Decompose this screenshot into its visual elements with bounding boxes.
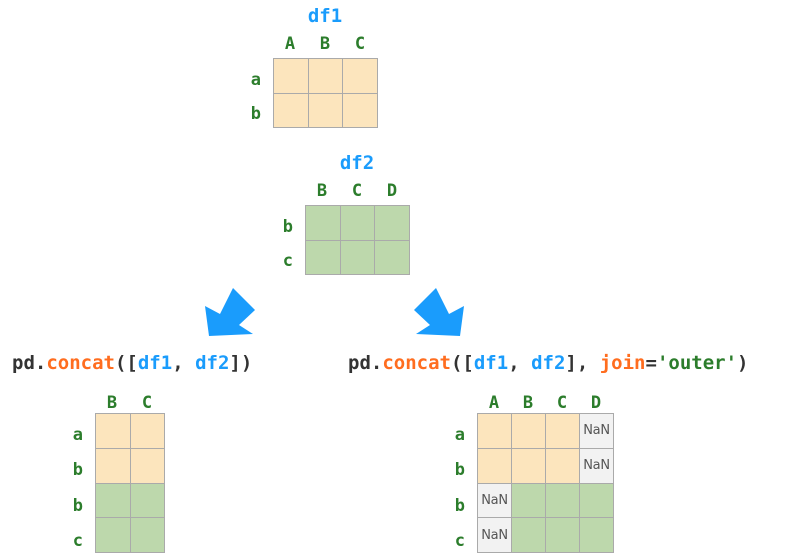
right-code-token-2: ([ [451, 352, 474, 374]
left-code-caption: pd.concat([df1, df2]) [12, 352, 252, 374]
left-result-cell-a-C [131, 414, 165, 448]
left-result-row-header-a: a [55, 425, 83, 445]
df1-cell-a-A [274, 59, 308, 93]
df1-table [273, 58, 378, 128]
pandas-concat-diagram: { "diagram": { "title": "pandas concat d… [0, 0, 800, 553]
left-code-token-6: ]) [229, 352, 252, 374]
right-result-row-header-b1: b [437, 460, 465, 480]
df1-row-header-b: b [233, 104, 261, 124]
right-result-cell-b2-D [580, 484, 613, 518]
right-code-token-7: join [600, 352, 646, 374]
df2-row-header-c: c [265, 251, 293, 271]
df1-row-header-a: a [233, 70, 261, 90]
df2-column-header-C: C [340, 181, 374, 201]
df1-cell-a-C [343, 59, 377, 93]
df2-cell-b-C [341, 206, 375, 240]
right-code-token-4: , [508, 352, 531, 374]
left-code-token-3: df1 [138, 352, 172, 374]
left-code-token-5: df2 [195, 352, 229, 374]
right-result-cell-a-C [546, 414, 579, 448]
df1-cell-b-B [309, 94, 343, 128]
right-result-column-header-A: A [477, 393, 511, 413]
arrow-down-right-icon [412, 286, 466, 336]
left-result-table [95, 413, 165, 553]
df2-cell-b-B [306, 206, 340, 240]
left-result-row-header-b1: b [55, 460, 83, 480]
right-result-cell-b1-A [478, 449, 511, 483]
df1-cell-b-C [343, 94, 377, 128]
right-result-cell-a-D: NaN [580, 414, 613, 448]
df2-cell-c-D [375, 241, 409, 275]
right-result-cell-b2-C [546, 484, 579, 518]
df2-title: df2 [305, 152, 409, 174]
left-code-token-2: ([ [115, 352, 138, 374]
df1-cell-a-B [309, 59, 343, 93]
df2-column-header-B: B [305, 181, 339, 201]
right-code-token-10: ) [737, 352, 748, 374]
df1-column-header-B: B [308, 34, 342, 54]
df2-cell-b-D [375, 206, 409, 240]
left-result-cell-b2-C [131, 484, 165, 518]
right-result-cell-b1-D: NaN [580, 449, 613, 483]
left-result-column-header-C: C [130, 393, 164, 413]
right-result-cell-b1-B [512, 449, 545, 483]
left-result-cell-b1-B [96, 449, 130, 483]
df2-column-header-D: D [375, 181, 409, 201]
right-code-token-3: df1 [474, 352, 508, 374]
right-code-token-9: 'outer' [657, 352, 737, 374]
left-result-row-header-b2: b [55, 496, 83, 516]
right-code-token-6: ], [565, 352, 599, 374]
right-code-token-5: df2 [531, 352, 565, 374]
right-result-row-header-c: c [437, 531, 465, 551]
left-result-cell-b2-B [96, 484, 130, 518]
left-result-cell-c-C [131, 518, 165, 552]
right-result-cell-c-B [512, 518, 545, 552]
right-result-cell-c-A: NaN [478, 518, 511, 552]
df1-cell-b-A [274, 94, 308, 128]
right-result-column-header-D: D [579, 393, 613, 413]
right-code-token-1: concat [382, 352, 451, 374]
df2-cell-c-C [341, 241, 375, 275]
right-result-cell-c-D [580, 518, 613, 552]
left-result-row-header-c: c [55, 531, 83, 551]
right-code-token-0: pd. [348, 352, 382, 374]
right-result-cell-a-A [478, 414, 511, 448]
df1-title: df1 [273, 5, 377, 27]
left-result-cell-a-B [96, 414, 130, 448]
left-code-token-4: , [172, 352, 195, 374]
left-result-column-header-B: B [95, 393, 129, 413]
df2-cell-c-B [306, 241, 340, 275]
right-result-column-header-C: C [545, 393, 579, 413]
left-result-cell-c-B [96, 518, 130, 552]
df1-column-header-C: C [343, 34, 377, 54]
left-result-cell-b1-C [131, 449, 165, 483]
right-code-caption: pd.concat([df1, df2], join='outer') [348, 352, 748, 374]
arrow-down-left-icon [203, 286, 257, 336]
right-result-row-header-a: a [437, 425, 465, 445]
df1-column-header-A: A [273, 34, 307, 54]
right-result-cell-c-C [546, 518, 579, 552]
right-code-token-8: = [646, 352, 657, 374]
df2-row-header-b: b [265, 217, 293, 237]
left-code-token-0: pd. [12, 352, 46, 374]
df2-table [305, 205, 410, 275]
left-code-token-1: concat [46, 352, 115, 374]
right-result-cell-b2-A: NaN [478, 484, 511, 518]
right-result-row-header-b2: b [437, 496, 465, 516]
right-result-cell-a-B [512, 414, 545, 448]
right-result-column-header-B: B [511, 393, 545, 413]
right-result-cell-b2-B [512, 484, 545, 518]
right-result-table: NaN NaN NaN NaN [477, 413, 614, 553]
right-result-cell-b1-C [546, 449, 579, 483]
